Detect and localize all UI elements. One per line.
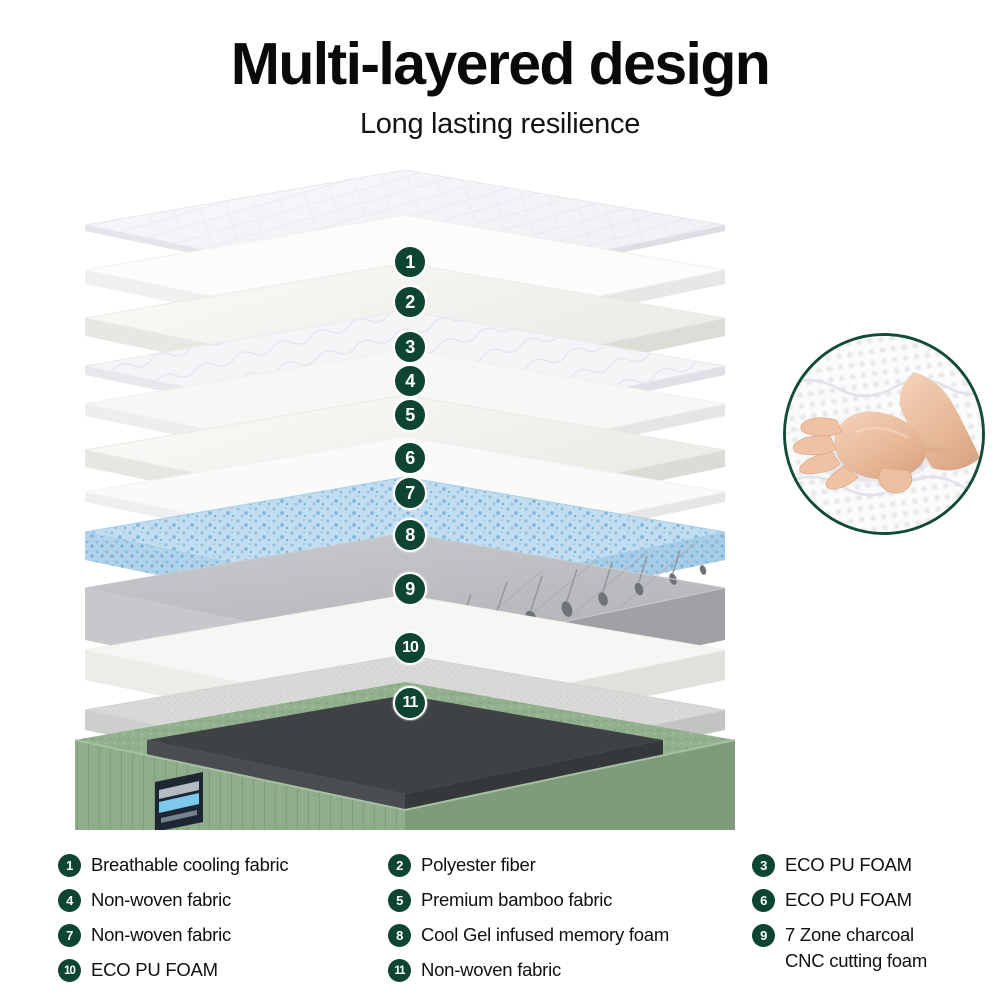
callout-badge-5[interactable]: 5 (393, 398, 427, 432)
page-subtitle: Long lasting resilience (0, 108, 1000, 141)
legend-label-3: ECO PU FOAM (785, 852, 912, 878)
legend-badge-2: 2 (388, 854, 411, 877)
legend-badge-6: 6 (752, 889, 775, 912)
legend-item-5[interactable]: 5 Premium bamboo fabric (388, 887, 738, 922)
legend-item-2[interactable]: 2 Polyester fiber (388, 852, 738, 887)
legend-badge-11: 11 (388, 959, 411, 982)
legend-badge-7: 7 (58, 924, 81, 947)
callout-badge-4[interactable]: 4 (393, 364, 427, 398)
legend-badge-4: 4 (58, 889, 81, 912)
callout-badge-7[interactable]: 7 (393, 476, 427, 510)
legend-item-4[interactable]: 4 Non-woven fabric (58, 887, 388, 922)
infographic-canvas: Multi-layered design Long lasting resili… (0, 0, 1000, 1000)
legend-item-10[interactable]: 10 ECO PU FOAM (58, 957, 388, 992)
legend-label-7: Non-woven fabric (91, 922, 231, 948)
legend-item-3[interactable]: 3 ECO PU FOAM (752, 852, 992, 887)
inset-illustration (786, 336, 985, 535)
callout-badge-8[interactable]: 8 (393, 518, 427, 552)
legend-item-9[interactable]: 9 7 Zone charcoal CNC cutting foam (752, 922, 992, 957)
legend-label-6: ECO PU FOAM (785, 887, 912, 913)
callout-badge-1[interactable]: 1 (393, 245, 427, 279)
legend-item-1[interactable]: 1 Breathable cooling fabric (58, 852, 388, 887)
legend-label-4: Non-woven fabric (91, 887, 231, 913)
legend-label-11: Non-woven fabric (421, 957, 561, 983)
callout-badge-9[interactable]: 9 (393, 572, 427, 606)
legend-item-8[interactable]: 8 Cool Gel infused memory foam (388, 922, 738, 957)
legend-item-7[interactable]: 7 Non-woven fabric (58, 922, 388, 957)
legend-badge-1: 1 (58, 854, 81, 877)
legend-badge-3: 3 (752, 854, 775, 877)
legend-label-10: ECO PU FOAM (91, 957, 218, 983)
callout-badge-10[interactable]: 10 (393, 631, 427, 665)
page-title: Multi-layered design (0, 34, 1000, 94)
callout-badge-3[interactable]: 3 (393, 330, 427, 364)
legend-badge-9: 9 (752, 924, 775, 947)
legend-item-11[interactable]: 11 Non-woven fabric (388, 957, 738, 992)
legend-label-2: Polyester fiber (421, 852, 536, 878)
layer-legend: 1 Breathable cooling fabric 4 Non-woven … (0, 852, 1000, 992)
legend-item-6[interactable]: 6 ECO PU FOAM (752, 887, 992, 922)
legend-label-8: Cool Gel infused memory foam (421, 922, 669, 948)
legend-badge-10: 10 (58, 959, 81, 982)
legend-label-9: 7 Zone charcoal CNC cutting foam (785, 922, 927, 974)
legend-badge-5: 5 (388, 889, 411, 912)
callout-badge-2[interactable]: 2 (393, 285, 427, 319)
callout-badge-11[interactable]: 11 (393, 686, 427, 720)
legend-badge-8: 8 (388, 924, 411, 947)
legend-column-1: 1 Breathable cooling fabric 4 Non-woven … (58, 852, 388, 992)
hand-pressing-mattress-photo (783, 333, 985, 535)
legend-column-2: 2 Polyester fiber 5 Premium bamboo fabri… (388, 852, 738, 992)
legend-label-1: Breathable cooling fabric (91, 852, 288, 878)
brand-label-tag (155, 772, 203, 830)
legend-label-5: Premium bamboo fabric (421, 887, 612, 913)
legend-column-3: 3 ECO PU FOAM 6 ECO PU FOAM 9 7 Zone cha… (752, 852, 992, 957)
callout-badge-6[interactable]: 6 (393, 441, 427, 475)
